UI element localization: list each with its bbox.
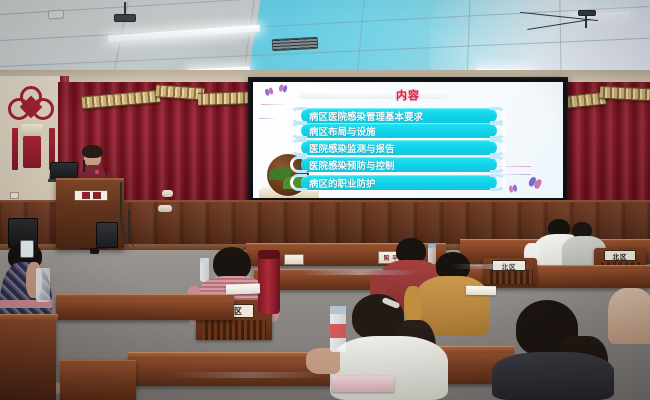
projection-screen: 内容: [248, 77, 568, 203]
stage-object: [162, 190, 173, 197]
wall-socket-icon: [10, 192, 19, 199]
chinese-knot-icon: [6, 84, 56, 184]
slide-bullet-text: 医院感染监测与报告: [301, 141, 395, 155]
butterfly-icon: [528, 176, 544, 190]
podium-nameplate: [74, 190, 108, 201]
seat-label-north-ward: 北区: [604, 250, 636, 261]
attendee-body: [492, 352, 614, 400]
slide-bullet-1: 病区医院感染管理基本要求: [301, 108, 497, 123]
bench-top: [0, 314, 58, 321]
slide-bullet-2: 病区布局与设施: [301, 123, 497, 138]
slide-bullet-text: 病区的职业防护: [301, 176, 376, 190]
slide-bullet-text: 病区布局与设施: [301, 124, 376, 138]
knot-plaque-icon: [21, 124, 43, 136]
bench-left: [0, 318, 56, 400]
table-name-card: [284, 254, 304, 265]
valance-trim: [198, 91, 254, 106]
microphone-stand: [83, 160, 85, 172]
attendee-arm: [404, 286, 422, 324]
bottle-cap: [428, 244, 436, 248]
projector-icon: [114, 14, 136, 22]
presentation-slide: 内容: [253, 82, 563, 198]
bottle-cap: [330, 306, 346, 314]
slide-bullet-text: 医院感染预防与控制: [301, 158, 395, 172]
thermos-cap: [258, 250, 280, 259]
bench-left-front: [60, 360, 136, 400]
desk-row-front-left: [56, 296, 234, 320]
paper-document: [466, 286, 496, 296]
light-reflection: [170, 372, 330, 378]
floral-spray-decor: [261, 104, 287, 105]
butterfly-icon: [508, 184, 518, 193]
slide-bullet-5: 病区的职业防护: [301, 175, 497, 190]
light-reflection: [452, 264, 532, 269]
presenter-shoe: [90, 248, 99, 254]
presenter-badge: [95, 170, 99, 174]
paper-document: [226, 283, 260, 294]
stage-object: [158, 205, 172, 212]
slide-bullet-text: 病区医院感染管理基本要求: [301, 109, 423, 123]
paper-document: [332, 376, 394, 392]
equipment-case: [96, 222, 118, 248]
bottle-label: [330, 324, 346, 338]
air-vent-icon: [272, 37, 319, 51]
water-bottle: [36, 268, 50, 302]
floral-spray-decor: [259, 118, 277, 119]
light-reflection: [300, 270, 420, 275]
thermos-flask: [258, 256, 280, 314]
valance-trim: [600, 86, 650, 102]
slide-bullet-4: 医院感染预防与控制: [301, 157, 497, 172]
camera-icon: [578, 10, 596, 16]
knot-tablet-icon: [23, 136, 41, 168]
bottle-cap: [200, 258, 209, 263]
mobile-phone: [20, 240, 34, 258]
slide-title: 内容: [253, 87, 563, 103]
ceiling: [0, 0, 650, 78]
smoke-detector-icon: [48, 9, 65, 19]
auditorium-photo: 内容: [0, 0, 650, 400]
attendee-body: [608, 288, 650, 344]
power-cable: [128, 210, 142, 248]
slide-bullet-3: 医院感染监测与报告: [301, 140, 497, 155]
desk-top: [56, 294, 234, 299]
presenter-hair: [82, 145, 103, 158]
